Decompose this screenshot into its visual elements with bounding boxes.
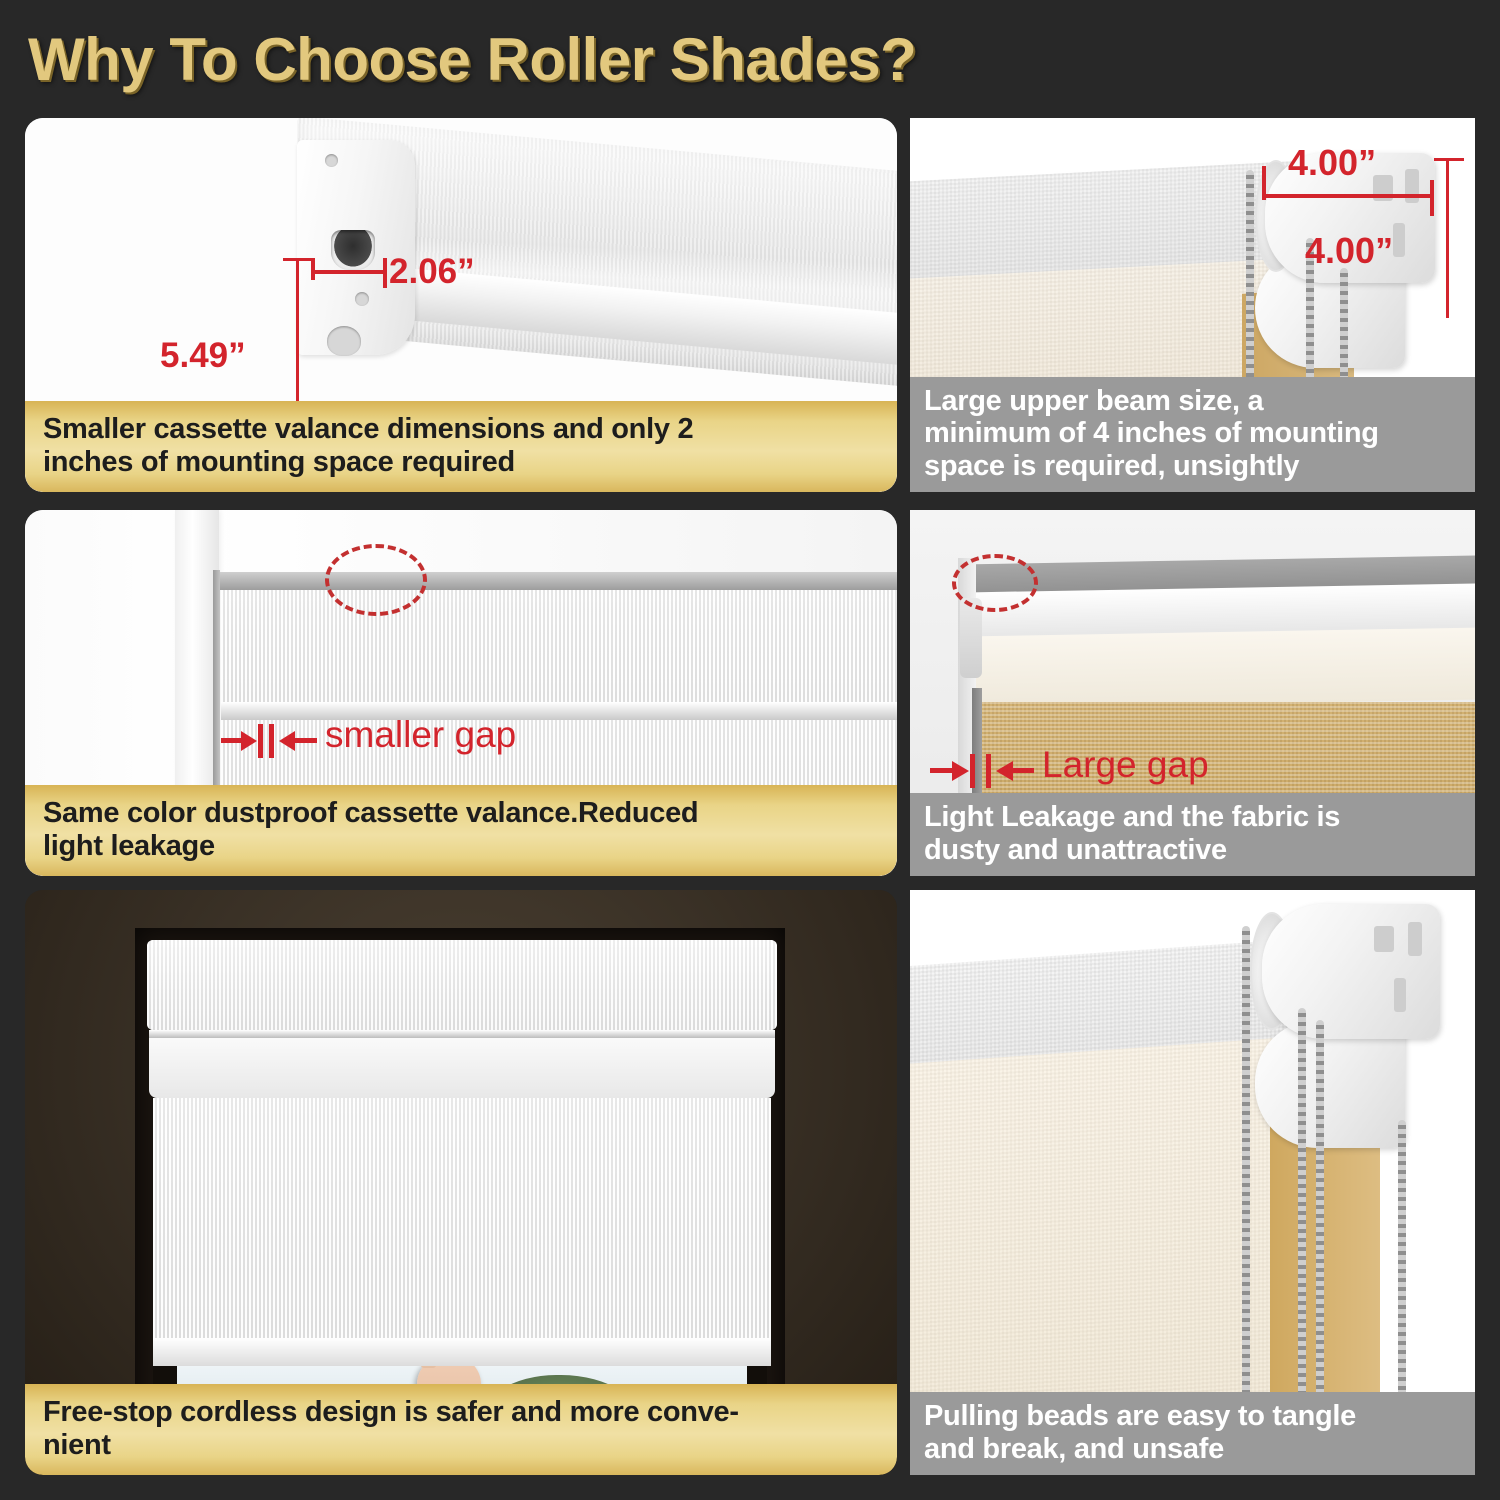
- endcap-screw-bottom: [327, 326, 361, 356]
- comparison-grid: 2.06” 5.49” Smaller cassette valance dim…: [0, 0, 1500, 1500]
- caption-line: Smaller cassette valance dimensions and …: [43, 413, 879, 445]
- width-dim-tick-right: [383, 258, 387, 288]
- cream-fabric-band: [970, 628, 1475, 709]
- caption-line: nient: [43, 1429, 879, 1461]
- panel-caption-good-smaller-gap: Same color dustproof cassette valance.Re…: [25, 785, 897, 876]
- panel-good-cordless: Free-stop cordless design is safer and m…: [25, 890, 897, 1475]
- gap-arrow-left-shaft: [930, 768, 954, 773]
- caption-line: light leakage: [43, 830, 879, 862]
- width-dimension-label: 2.06”: [389, 252, 475, 292]
- beam-width-dimension-label: 4.00”: [1288, 142, 1376, 184]
- bracket-main: [1262, 904, 1440, 1039]
- panel-good-smaller-gap: smaller gap Same color dustproof cassett…: [25, 510, 897, 876]
- gap-arrow-left-head: [241, 731, 257, 751]
- gap-tick-b: [986, 754, 991, 788]
- cassette-seam: [149, 1030, 775, 1038]
- beam-width-tick-right: [1430, 180, 1434, 216]
- panel-caption-good-cordless: Free-stop cordless design is safer and m…: [25, 1384, 897, 1475]
- caption-line: Pulling beads are easy to tangle: [924, 1400, 1461, 1432]
- height-dimension-label: 5.49”: [160, 336, 246, 376]
- panel-bad-large-gap: Large gap Light Leakage and the fabric i…: [910, 510, 1475, 876]
- caption-line: Large upper beam size, a: [924, 385, 1461, 417]
- panel-caption-bad-pull-beads: Pulling beads are easy to tangle and bre…: [910, 1392, 1475, 1475]
- endcap-screw-top: [325, 154, 338, 167]
- bracket-notch-a: [1374, 926, 1394, 952]
- beam-height-tick-top: [1434, 158, 1464, 161]
- cassette-valance-strip: [219, 572, 897, 590]
- gap-arrow-left-head: [952, 761, 969, 781]
- gap-tick-b: [269, 724, 274, 758]
- caption-line: inches of mounting space required: [43, 446, 879, 478]
- caption-line: space is required, unsightly: [924, 450, 1461, 482]
- panel-bad-pull-beads: Pulling beads are easy to tangle and bre…: [910, 890, 1475, 1475]
- gap-arrow-right-shaft: [1012, 768, 1034, 773]
- caption-line: minimum of 4 inches of mounting: [924, 417, 1461, 449]
- shade-fabric: [153, 1098, 771, 1350]
- bracket-lower: [1255, 1020, 1405, 1148]
- caption-line: and break, and unsafe: [924, 1433, 1461, 1465]
- height-dim-tick-top: [283, 258, 313, 261]
- cassette-valance: [147, 940, 777, 1030]
- caption-line: dusty and unattractive: [924, 834, 1461, 866]
- panel-caption-good-cassette: Smaller cassette valance dimensions and …: [25, 401, 897, 492]
- valance-endcap-shape: [297, 140, 415, 355]
- gap-arrow-right-shaft: [295, 738, 317, 743]
- endcap-slot: [331, 230, 375, 270]
- panel-bad-large-beam: 4.00” 4.00” Large upper beam size, a min…: [910, 118, 1475, 492]
- shade-bottom-rail: [153, 1338, 771, 1366]
- width-dim-tick-left: [311, 258, 315, 280]
- caption-line: Light Leakage and the fabric is: [924, 801, 1461, 833]
- width-dim-line: [311, 270, 387, 274]
- caption-line: Same color dustproof cassette valance.Re…: [43, 797, 879, 829]
- bracket-notch-c: [1394, 978, 1406, 1012]
- smaller-gap-label: smaller gap: [325, 714, 516, 756]
- bracket-notch-b: [1408, 922, 1422, 956]
- large-gap-label: Large gap: [1042, 744, 1209, 786]
- shade-divider-bar: [221, 702, 897, 720]
- highlight-circle-icon: [325, 544, 427, 616]
- beam-width-tick-left: [1262, 166, 1266, 200]
- highlight-circle-icon: [952, 554, 1038, 612]
- cassette-lower-face: [149, 1038, 775, 1098]
- beam-height-dim-line: [1446, 158, 1449, 318]
- shade-fabric-upper: [221, 590, 897, 702]
- bracket-notch-c: [1393, 223, 1405, 257]
- gap-tick-a: [258, 724, 263, 758]
- panel-caption-bad-large-beam: Large upper beam size, a minimum of 4 in…: [910, 377, 1475, 492]
- panel-good-cassette-dimensions: 2.06” 5.49” Smaller cassette valance dim…: [25, 118, 897, 492]
- gap-arrow-right-head: [279, 731, 295, 751]
- gap-tick-a: [970, 754, 975, 788]
- caption-line: Free-stop cordless design is safer and m…: [43, 1396, 879, 1428]
- endcap-screw-mid: [355, 292, 369, 306]
- gap-arrow-right-head: [996, 761, 1013, 781]
- beam-width-dim-line: [1263, 194, 1433, 198]
- panel-caption-bad-large-gap: Light Leakage and the fabric is dusty an…: [910, 793, 1475, 876]
- beam-height-dimension-label: 4.00”: [1305, 230, 1393, 272]
- pull-beads-photo: [910, 890, 1475, 1475]
- gap-arrow-left-shaft: [221, 738, 243, 743]
